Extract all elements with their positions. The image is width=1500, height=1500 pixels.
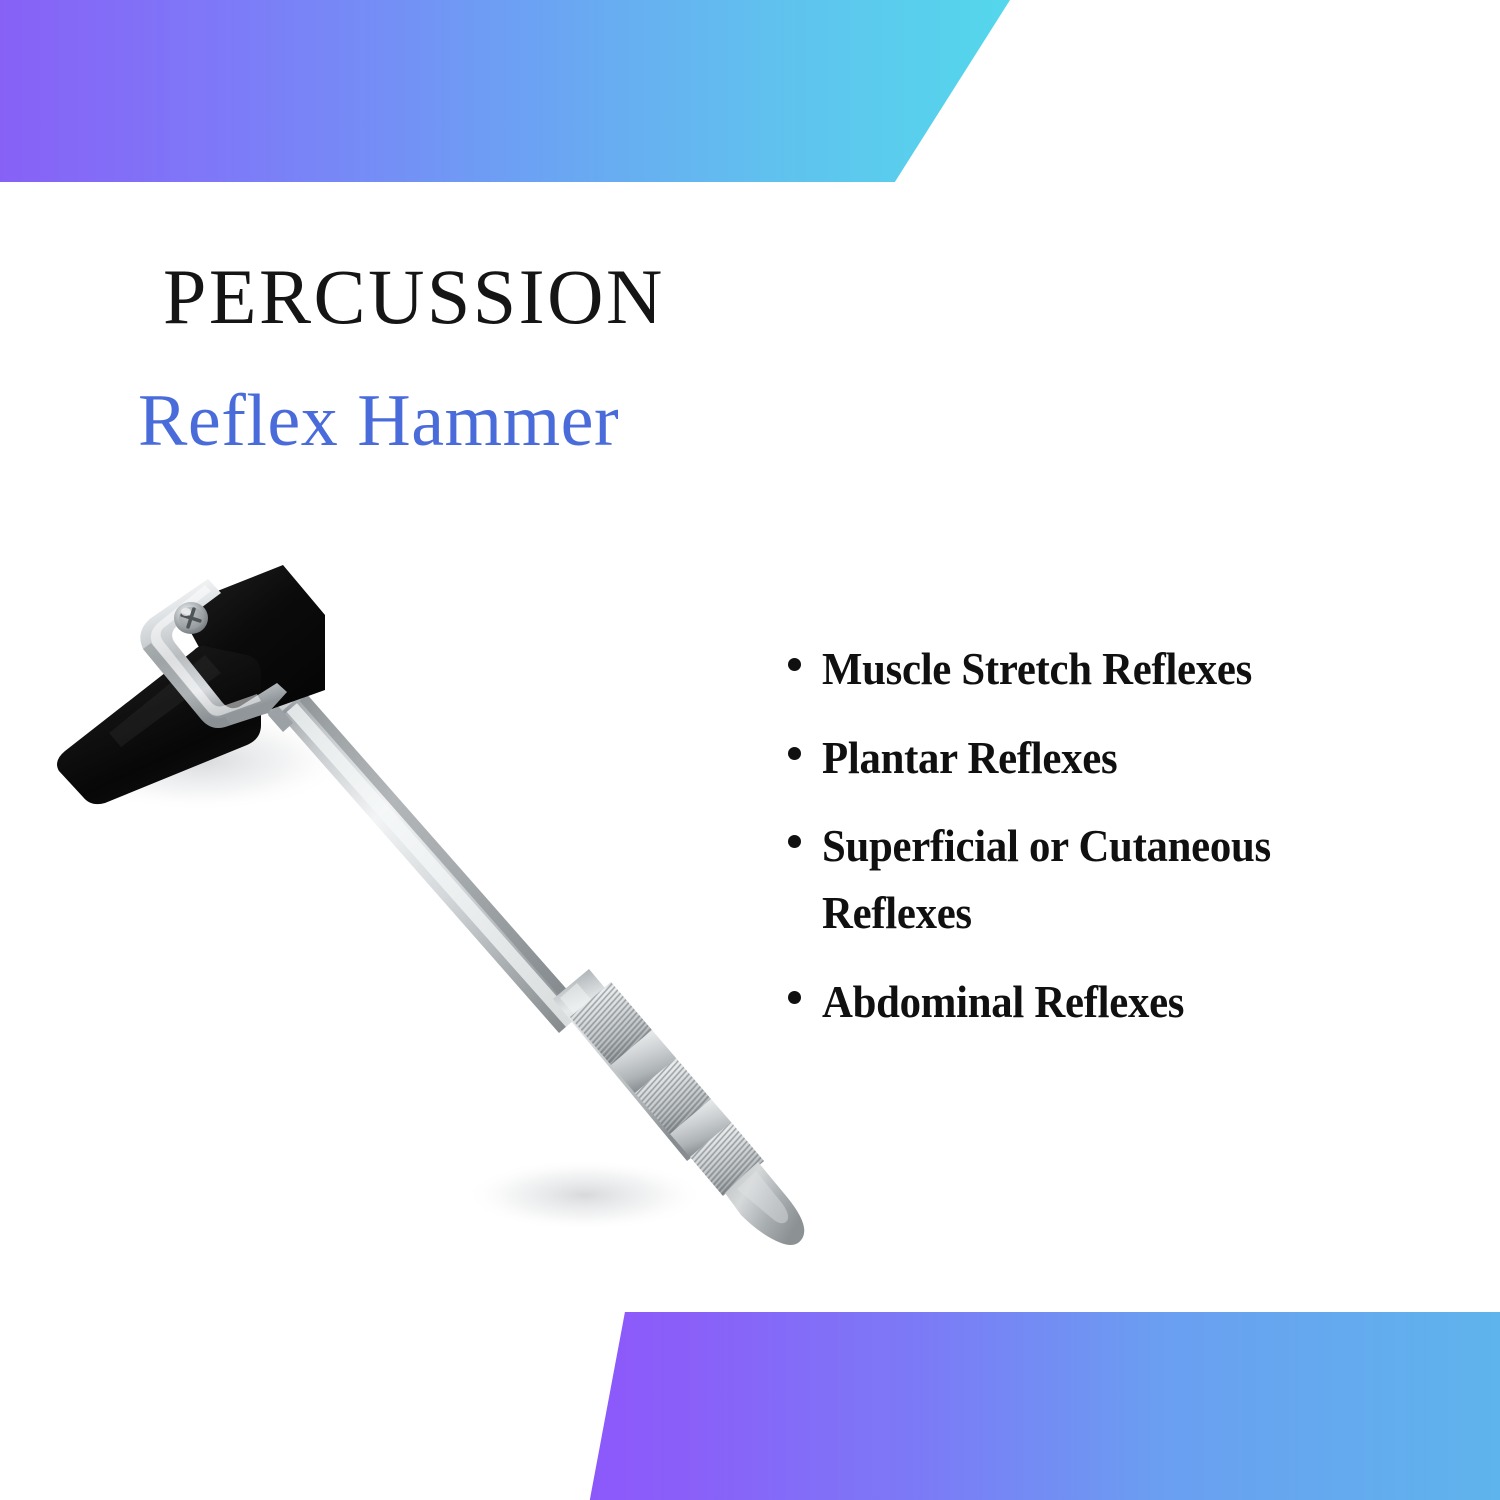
- product-shadow-tip: [465, 1159, 705, 1231]
- feature-label: Plantar Reflexes: [822, 725, 1117, 792]
- list-item: Superficial or Cutaneous Reflexes: [788, 813, 1488, 946]
- product-image: [25, 555, 815, 1255]
- page-title-primary: PERCUSSION: [0, 258, 800, 336]
- feature-list: Muscle Stretch Reflexes Plantar Reflexes…: [788, 636, 1488, 1057]
- top-gradient-banner: [0, 0, 1010, 182]
- list-item: Plantar Reflexes: [788, 725, 1488, 792]
- list-item: Muscle Stretch Reflexes: [788, 636, 1488, 703]
- list-item: Abdominal Reflexes: [788, 969, 1488, 1036]
- feature-label: Superficial or Cutaneous Reflexes: [822, 813, 1427, 946]
- bullet-icon: [788, 835, 801, 848]
- bullet-icon: [788, 658, 801, 671]
- page-title-secondary: Reflex Hammer: [0, 336, 800, 458]
- infographic-page: PERCUSSION Reflex Hammer: [0, 0, 1500, 1500]
- hammer-shaft: [271, 683, 585, 1033]
- feature-label: Abdominal Reflexes: [822, 969, 1184, 1036]
- bracket-screw: [174, 602, 208, 634]
- page-title: PERCUSSION Reflex Hammer: [0, 258, 800, 458]
- reflex-hammer-illustration: [25, 555, 815, 1255]
- bullet-icon: [788, 747, 801, 760]
- feature-label: Muscle Stretch Reflexes: [822, 636, 1252, 703]
- bottom-gradient-banner: [575, 1312, 1500, 1500]
- bullet-icon: [788, 991, 801, 1004]
